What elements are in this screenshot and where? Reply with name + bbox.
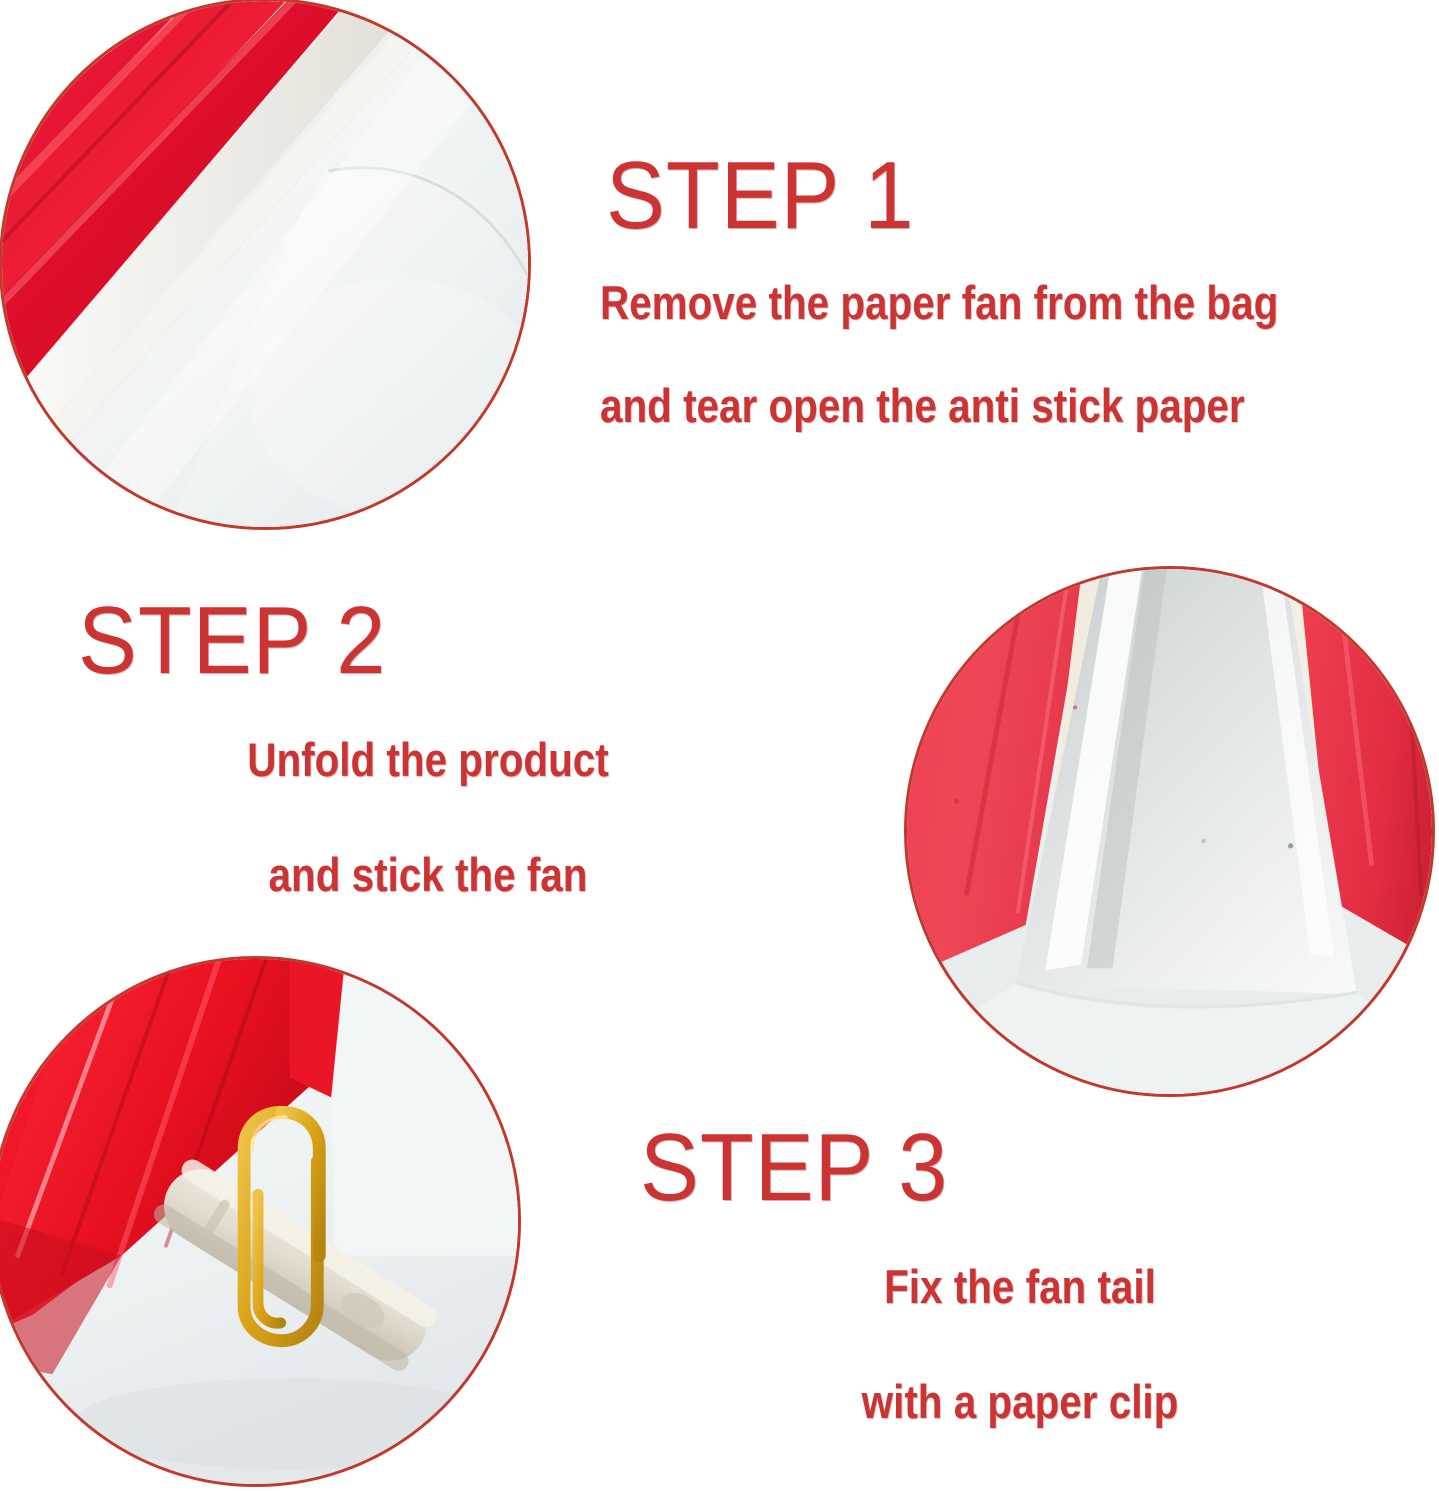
fan-tail-paper-clip-photo: [0, 956, 521, 1487]
step-1-title: STEP 1: [606, 150, 1326, 241]
step-1-description-line-1: Remove the paper fan from the bag: [600, 263, 1278, 344]
paper-fan-in-bag-illustration: [2, 1, 528, 527]
step-2-description-line-2: and stick the fan: [127, 835, 729, 916]
step-1-text-block: STEP 1 Remove the paper fan from the bag…: [600, 150, 1389, 447]
step-2-title: STEP 2: [78, 595, 722, 686]
step-2-description-line-1: Unfold the product: [127, 720, 729, 801]
step-2-text-block: STEP 2 Unfold the product and stick the …: [78, 595, 778, 916]
step-3-description-line-2: with a paper clip: [693, 1362, 1347, 1443]
paper-fan-in-bag-photo: [0, 0, 531, 530]
step-1-description-line-2: and tear open the anti stick paper: [600, 366, 1278, 447]
unfolded-fan-illustration: [907, 569, 1432, 1094]
unfolded-fan-photo: [904, 566, 1435, 1097]
step-3-text-block: STEP 3 Fix the fan tail with a paper cli…: [640, 1122, 1400, 1443]
fan-tail-paper-clip-illustration: [0, 959, 518, 1484]
step-3-description-line-1: Fix the fan tail: [693, 1247, 1347, 1328]
step-3-title: STEP 3: [640, 1122, 1339, 1213]
